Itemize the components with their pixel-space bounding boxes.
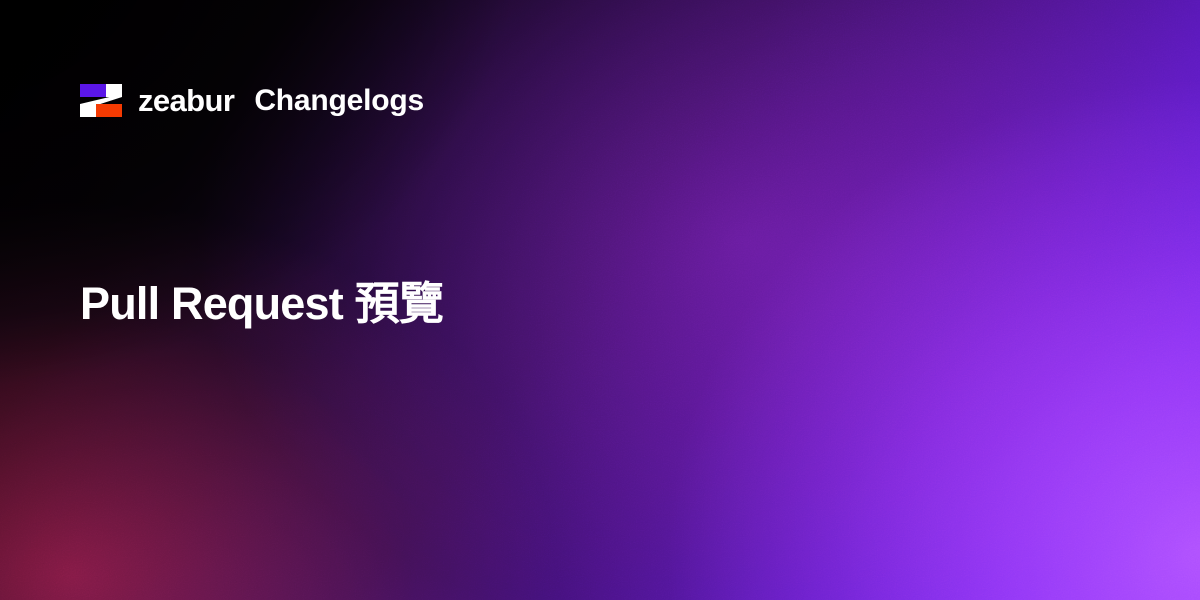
brand-wordmark: zeabur xyxy=(138,85,234,116)
section-title-changelogs: Changelogs xyxy=(254,86,424,116)
changelog-hero-banner: zeabur Changelogs Pull Request 預覽 xyxy=(0,0,1200,600)
page-title: Pull Request 預覽 xyxy=(80,279,443,329)
zeabur-logo-icon[interactable] xyxy=(80,84,122,117)
brand-header[interactable]: zeabur Changelogs xyxy=(80,84,424,117)
